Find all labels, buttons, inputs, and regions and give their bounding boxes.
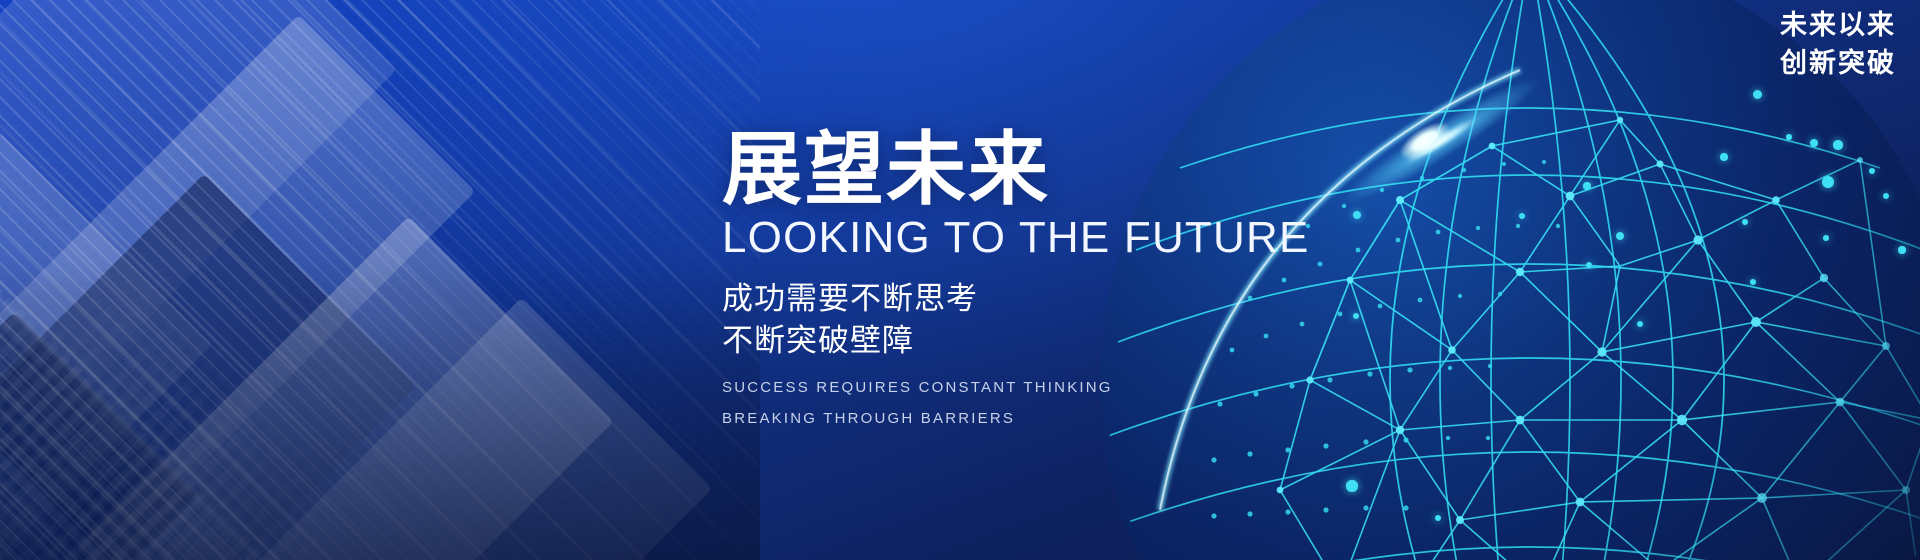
- particle-dot: [1586, 262, 1592, 268]
- particle-dot: [1637, 321, 1643, 327]
- left-geometric-decoration: [0, 0, 760, 560]
- supporting-copy-en-line1: SUCCESS REQUIRES CONSTANT THINKING: [722, 372, 1422, 404]
- corner-slogan: 未来以来 创新突破: [1780, 6, 1896, 83]
- supporting-copy-cn: 成功需要不断思考 不断突破壁障: [722, 278, 1422, 362]
- particle-dot: [1823, 235, 1829, 241]
- particle-dot: [1810, 139, 1818, 147]
- particle-dot: [1898, 246, 1905, 253]
- page-title: 展望未来: [722, 130, 1422, 210]
- page-subtitle-en: LOOKING TO THE FUTURE: [722, 214, 1422, 262]
- corner-slogan-line1: 未来以来: [1780, 6, 1896, 44]
- bottom-shade: [0, 260, 760, 560]
- supporting-copy-en: SUCCESS REQUIRES CONSTANT THINKING BREAK…: [722, 372, 1422, 435]
- particle-dot: [1750, 279, 1756, 285]
- particle-dot: [1435, 515, 1441, 521]
- particle-dot: [1883, 193, 1889, 199]
- supporting-copy-cn-line1: 成功需要不断思考: [722, 278, 1422, 320]
- particle-dot: [1833, 140, 1842, 149]
- particle-dot: [1346, 480, 1357, 491]
- supporting-copy-en-line2: BREAKING THROUGH BARRIERS: [722, 403, 1422, 435]
- particle-dot: [1519, 213, 1525, 219]
- particle-dot: [1786, 134, 1791, 139]
- promo-banner: 未来以来 创新突破 展望未来 LOOKING TO THE FUTURE 成功需…: [0, 0, 1920, 560]
- particle-dot: [1753, 90, 1762, 99]
- corner-slogan-line2: 创新突破: [1780, 44, 1896, 82]
- particle-dot: [1720, 153, 1727, 160]
- supporting-copy-cn-line2: 不断突破壁障: [722, 320, 1422, 362]
- particle-dot: [1583, 182, 1590, 189]
- headline-block: 展望未来 LOOKING TO THE FUTURE 成功需要不断思考 不断突破…: [722, 130, 1422, 435]
- particle-dot: [1822, 176, 1834, 188]
